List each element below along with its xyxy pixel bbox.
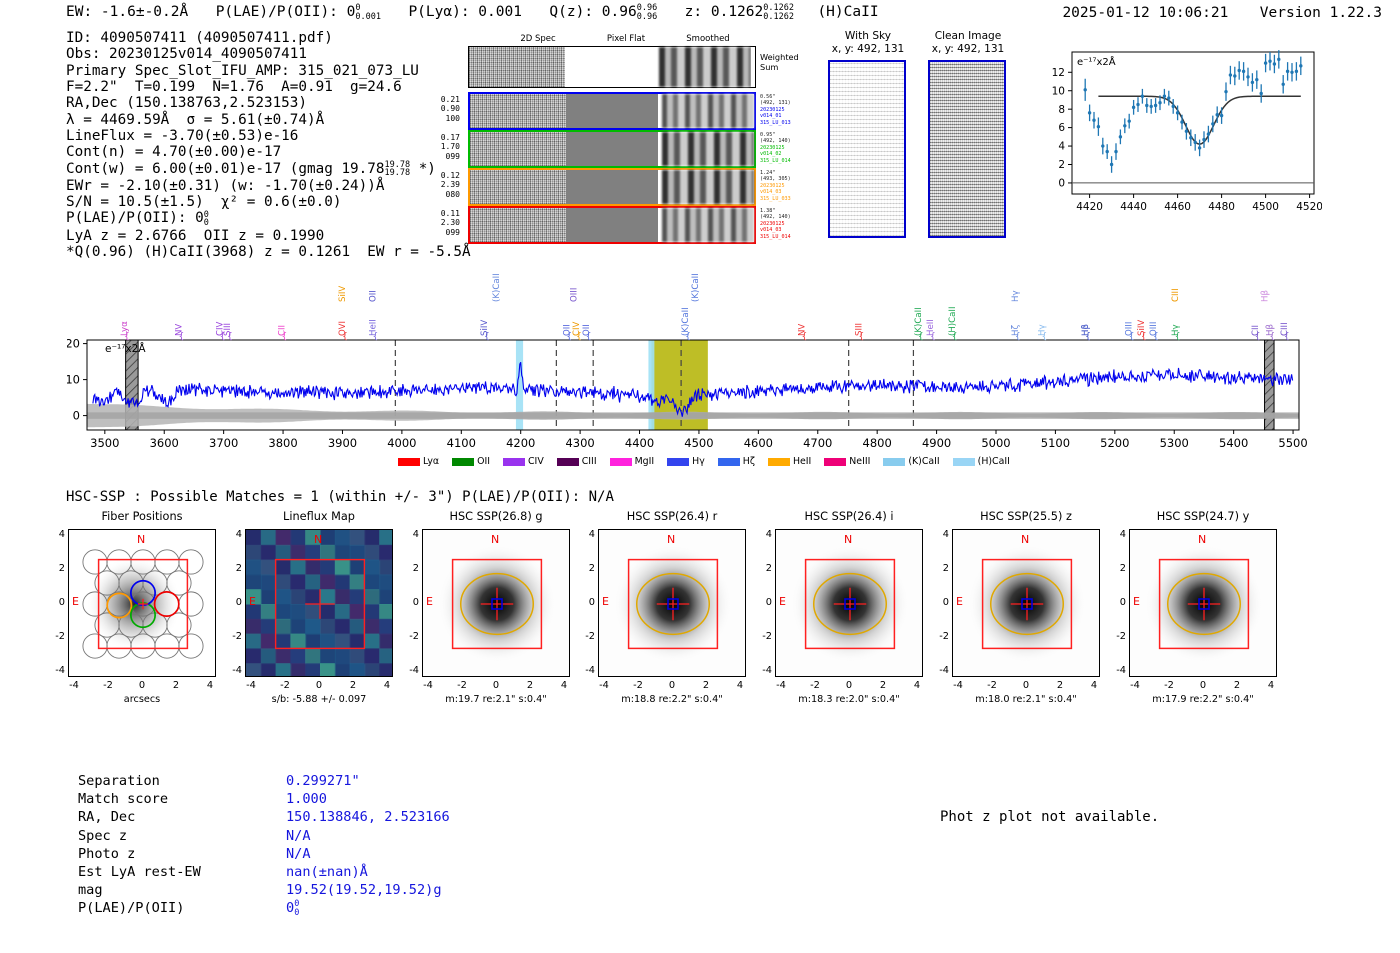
cutout-x-tick: -4 [1126,680,1144,691]
cutout-x-tick: 2 [1051,680,1069,691]
legend-item: Hγ [667,456,705,467]
cutout-image[interactable] [775,529,923,677]
svg-text:2: 2 [1058,159,1065,171]
cutout-x-tick: 0 [310,680,328,691]
info-cont-n: Cont(n) = 4.70(±0.00)e-17 [66,144,471,160]
header-z: z: 0.1262 [685,4,764,20]
info-qnote: *Q(0.96) (H)CaII(3968) z = 0.1261 EW r =… [66,244,471,260]
legend-label: Hγ [692,456,705,467]
svg-text:8: 8 [1058,104,1065,116]
spectrum-line-label: OII [368,290,378,302]
info-cont-w: Cont(w) = 6.00(±0.01)e-17 (gmag 19.7819.… [66,161,471,178]
header-plae-frac: 00.001 [355,4,381,21]
compass-north: N [491,533,499,546]
cutout-y-tick: -4 [1109,665,1126,676]
fiber-pixelflat-image [566,132,658,166]
cutout-x-tick: -2 [983,680,1001,691]
compass-north: N [844,533,852,546]
info-gmag-frac: 19.7819.78 [384,161,410,178]
info-ewr: EWr = -2.10(±0.31) (w: -1.70(±0.24))Å [66,178,471,194]
legend-swatch [610,458,632,466]
fiber-stats: 0.171.70099 [430,133,460,161]
legend-swatch [953,458,975,466]
cutout-y-tick: 0 [755,597,772,608]
line-fit-svg: 442044404460448045004520024681012e⁻¹⁷x2Å [1032,44,1322,224]
info-obs: Obs: 20230125v014_4090507411 [66,46,471,62]
cutout-y-tick: -2 [1109,631,1126,642]
cutout-y-tick: 0 [578,597,595,608]
cutout-title: HSC SSP(24.7) y [1099,510,1307,523]
cutout-image[interactable] [245,529,393,677]
fiber-smoothed-image [662,132,754,166]
header-plae-label: P(LAE)/P(OII): [216,4,338,20]
svg-text:4800: 4800 [863,436,892,450]
svg-text:4460: 4460 [1164,201,1191,213]
svg-text:{: { [802,332,808,342]
fiber-smoothed-image [662,94,754,128]
svg-text:4400: 4400 [625,436,654,450]
cutout-image[interactable] [952,529,1100,677]
cutout-x-tick: 0 [1017,680,1035,691]
legend-label: OII [477,456,490,467]
info-lineflux: LineFlux = -3.70(±0.53)e-16 [66,128,471,144]
info-plae: P(LAE)/P(OII): 000 [66,210,471,227]
svg-text:4520: 4520 [1296,201,1322,213]
legend-label: CIV [528,456,544,467]
match-table-value: N/A [286,845,311,863]
fiber-panel[interactable] [468,206,756,244]
cutout-x-tick: -4 [772,680,790,691]
legend-swatch [883,458,905,466]
fiber-metadata: 1.24"(493, 305)20230125v014_03315_LU_033 [760,170,806,202]
cutout-x-tick: 2 [167,680,185,691]
version-value: Version 1.22.3 [1260,5,1382,21]
with-sky-image[interactable] [828,60,906,238]
svg-text:{: { [930,332,936,342]
svg-text:{: { [1269,332,1275,342]
cutout-x-tick: 0 [1194,680,1212,691]
svg-text:3800: 3800 [268,436,297,450]
legend-item: MgII [610,456,655,467]
cutout-y-tick: 4 [402,529,419,540]
compass-east: E [426,595,433,608]
cutout-x-tick: -4 [595,680,613,691]
report-timestamp: 2025-01-12 10:06:21 Version 1.22.3 [1062,5,1382,21]
header-summary-line: EW: -1.6±-0.2Å P(LAE)/P(OII): 000.001 P(… [66,4,879,21]
compass-east: E [602,595,609,608]
cutout-x-tick: -2 [629,680,647,691]
cutout-x-tick: 0 [663,680,681,691]
svg-text:{: { [1041,332,1047,342]
cutout-footer: m:17.9 re:2.2" s:0.4" [1095,694,1311,705]
fiber-metadata: 0.95"(492, 140)20230125v014_02315_LU_014 [760,132,806,164]
legend-swatch [452,458,474,466]
cutout-y-tick: 4 [225,529,242,540]
match-table-key: mag [78,881,103,899]
info-id: ID: 4090507411 (4090507411.pdf) [66,30,471,46]
legend-item: Lyα [398,456,439,467]
fiber-stats: 0.112.30099 [430,209,460,237]
legend-item: (H)CaII [953,456,1010,467]
svg-text:4700: 4700 [803,436,832,450]
match-table-key: Est LyA rest-EW [78,863,201,881]
header-qz: Q(z): 0.96 [549,4,636,20]
cutout-y-tick: -2 [402,631,419,642]
cutout-y-tick: 0 [48,597,65,608]
svg-text:{: { [685,332,691,342]
legend-swatch [824,458,846,466]
cutout-x-tick: 0 [840,680,858,691]
info-redshifts: LyA z = 2.6766 OII z = 0.1990 [66,228,471,244]
fiber-2dspec-image [470,208,566,242]
legend-swatch [398,458,420,466]
svg-text:{: { [484,332,490,342]
sky-panel-coords: x, y: 492, 131 [908,43,1028,55]
compass-east: E [779,595,786,608]
cutout-image[interactable] [1129,529,1277,677]
cutout-y-tick: -4 [755,665,772,676]
legend-label: HeII [793,456,811,467]
weighted-sum-label: Weighted Sum [760,52,799,72]
cutout-x-tick: -2 [453,680,471,691]
cutout-x-tick: -2 [276,680,294,691]
cutout-y-tick: -2 [225,631,242,642]
spectrum-line-label: OIII [570,288,580,302]
fiber-pixelflat-image [566,94,658,128]
svg-text:3500: 3500 [90,436,119,450]
compass-east: E [249,595,256,608]
svg-text:5000: 5000 [981,436,1010,450]
match-table-key: Photo z [78,845,135,863]
svg-text:12: 12 [1052,67,1065,79]
svg-text:{: { [220,332,226,342]
compass-north: N [1198,533,1206,546]
fiber-pixelflat-image [566,170,658,204]
svg-text:10: 10 [1052,85,1065,97]
hsc-header: HSC-SSP : Possible Matches = 1 (within +… [66,489,614,505]
compass-east: E [72,595,79,608]
svg-text:{: { [1284,332,1290,342]
svg-text:{: { [179,332,185,342]
cutout-y-tick: 0 [932,597,949,608]
cutout-y-tick: 2 [1109,563,1126,574]
match-table-value: 150.138846, 2.523166 [286,808,450,826]
fiber-smoothed-image [662,170,754,204]
svg-text:{: { [227,332,233,342]
fiber-panel[interactable] [468,92,756,130]
cutout-x-tick: 2 [697,680,715,691]
svg-text:4: 4 [1058,141,1065,153]
info-primary-spec: Primary Spec_Slot_IFU_AMP: 315_021_073_L… [66,63,471,79]
svg-text:e⁻¹⁷x2Å: e⁻¹⁷x2Å [105,342,146,355]
svg-text:3900: 3900 [328,436,357,450]
info-lambda: λ = 4469.59Å σ = 5.61(±0.74)Å [66,112,471,128]
compass-east: E [1133,595,1140,608]
match-table-value: nan(±nan)Å [286,863,368,881]
fiber-metadata: 0.56"(492, 131)20230125v014_01315_LU_013 [760,94,806,126]
svg-text:{: { [1015,332,1021,342]
info-radec: RA,Dec (150.138763,2.523153) [66,95,471,111]
cutout-y-tick: -4 [225,665,242,676]
cutout-y-tick: 4 [578,529,595,540]
svg-text:{: { [1153,332,1159,342]
cutout-y-tick: 4 [48,529,65,540]
svg-text:{: { [918,332,924,342]
svg-text:e⁻¹⁷x2Å: e⁻¹⁷x2Å [1077,55,1116,68]
svg-text:{: { [282,332,288,342]
cutout-x-tick: 0 [133,680,151,691]
clean-image[interactable] [928,60,1006,238]
svg-text:4500: 4500 [684,436,713,450]
header-qz-frac: 0.960.96 [637,4,657,21]
legend-swatch [768,458,790,466]
svg-text:6: 6 [1058,122,1065,134]
col-title-smoothed: Smoothed [668,34,748,44]
spectrum-line-label: (K)CaII [492,273,502,302]
spectrum-line-label: Hβ [1260,290,1270,302]
cutout-y-tick: 2 [225,563,242,574]
svg-text:{: { [952,332,958,342]
svg-text:4300: 4300 [565,436,594,450]
line-fit-plot: 442044404460448045004520024681012e⁻¹⁷x2Å [1032,44,1322,224]
cutout-x-tick: 2 [344,680,362,691]
legend-swatch [557,458,579,466]
svg-text:20: 20 [67,337,80,351]
cutout-y-tick: 2 [402,563,419,574]
header-z-frac: 0.12620.1262 [763,4,794,21]
info-plae-frac: 00 [204,211,209,228]
legend-label: Lyα [423,456,439,467]
cutout-x-tick: 2 [874,680,892,691]
svg-text:{: { [1141,332,1147,342]
svg-text:0: 0 [73,409,80,423]
legend-item: CIII [557,456,597,467]
svg-text:4200: 4200 [506,436,535,450]
header-ew: EW: -1.6±-0.2Å [66,4,188,20]
cutout-x-tick: 4 [201,680,219,691]
legend-item: CIV [503,456,544,467]
svg-text:4600: 4600 [744,436,773,450]
svg-text:4500: 4500 [1252,201,1279,213]
weighted-sum-panel [468,46,756,88]
svg-text:0: 0 [1058,178,1065,190]
fiber-pixelflat-image [566,208,658,242]
svg-text:5200: 5200 [1100,436,1129,450]
match-table-key: RA, Dec [78,808,135,826]
legend-item: (K)CaII [883,456,939,467]
cutout-x-tick: 4 [1085,680,1103,691]
cutout-y-tick: -4 [402,665,419,676]
fiber-stats: 0.210.90100 [430,95,460,123]
fiber-panel[interactable] [468,168,756,206]
svg-text:{: { [858,332,864,342]
spectrum-line-label: (K)CaII [691,273,701,302]
sky-panel-title: Clean Image [908,30,1028,42]
cutout-y-tick: 2 [932,563,949,574]
svg-text:{: { [586,332,592,342]
cutout-y-tick: 2 [48,563,65,574]
timestamp-value: 2025-01-12 10:06:21 [1062,5,1228,21]
match-table-value: 0.299271" [286,772,360,790]
spectrum-line-label: SiIV [338,286,348,302]
svg-text:5100: 5100 [1041,436,1070,450]
svg-text:{: { [1255,332,1261,342]
legend-item: NeIII [824,456,870,467]
match-table-key: Separation [78,772,160,790]
svg-text:5500: 5500 [1278,436,1307,450]
legend-swatch [667,458,689,466]
cutout-x-tick: 4 [555,680,573,691]
cutout-x-tick: 4 [1262,680,1280,691]
svg-text:10: 10 [67,373,80,387]
cutout-y-tick: -4 [578,665,595,676]
cutout-x-tick: -2 [1160,680,1178,691]
cutout-x-tick: 2 [1228,680,1246,691]
spectrum-line-label: Hγ [1011,290,1021,302]
svg-text:3600: 3600 [150,436,179,450]
fiber-2dspec-image [470,132,566,166]
cutout-x-tick: -4 [949,680,967,691]
cutout-y-tick: -2 [755,631,772,642]
svg-text:5300: 5300 [1160,436,1189,450]
spectrum-line-label: CIII [1171,288,1181,302]
cutout-y-tick: 2 [578,563,595,574]
fiber-panel[interactable] [468,130,756,168]
cutout-y-tick: 0 [1109,597,1126,608]
svg-text:4000: 4000 [387,436,416,450]
header-z-species: (H)CaII [817,4,878,20]
cutout-x-tick: -2 [99,680,117,691]
col-title-2dspec: 2D Spec [498,34,578,44]
cutout-y-tick: -2 [578,631,595,642]
cutout-y-tick: 0 [402,597,419,608]
svg-text:{: { [1175,332,1181,342]
cutout-x-tick: -4 [242,680,260,691]
cutout-x-tick: 4 [731,680,749,691]
svg-text:5400: 5400 [1219,436,1248,450]
cutout-y-tick: 0 [225,597,242,608]
fiber-2dspec-image [470,170,566,204]
compass-north: N [314,533,322,546]
legend-label: (H)CaII [978,456,1010,467]
cutout-image[interactable] [598,529,746,677]
match-table-key: P(LAE)/P(OII) [78,899,184,917]
fiber-2dspec-image [470,94,566,128]
cutout-y-tick: 2 [755,563,772,574]
cutout-y-tick: -2 [932,631,949,642]
svg-text:4100: 4100 [447,436,476,450]
svg-text:4420: 4420 [1076,201,1103,213]
match-table-value: N/A [286,827,311,845]
info-snr: S/N = 10.5(±1.5) χ² = 0.6(±0.0) [66,194,471,210]
cutout-x-tick: 2 [521,680,539,691]
legend-swatch [718,458,740,466]
match-table-value: 000 [286,899,299,917]
legend-label: MgII [635,456,655,467]
match-table-key: Spec z [78,827,127,845]
svg-text:{: { [1085,332,1091,342]
match-table-value: 1.000 [286,790,327,808]
fiber-metadata: 1.38"(492, 140)20230125v014_03315_LU_014 [760,208,806,240]
compass-east: E [956,595,963,608]
fiber-stats: 0.122.39080 [430,171,460,199]
cutout-x-tick: 4 [378,680,396,691]
compass-north: N [137,533,145,546]
photz-note: Phot z plot not available. [940,809,1159,825]
cutout-image[interactable] [68,529,216,677]
header-plae-value: 0 [347,4,356,20]
match-table-value: 19.52(19.52,19.52)g [286,881,442,899]
legend-swatch [503,458,525,466]
legend-item: OII [452,456,490,467]
svg-text:{: { [1129,332,1135,342]
source-info-block: ID: 4090507411 (4090507411.pdf) Obs: 202… [66,30,471,260]
legend-label: Hζ [743,456,755,467]
cutout-y-tick: -4 [48,665,65,676]
cutout-x-tick: 0 [487,680,505,691]
cutout-y-tick: 4 [932,529,949,540]
main-spectrum-svg: 0102035003600370038003900400041004200430… [67,268,1349,456]
match-table-key: Match score [78,790,168,808]
legend-label: (K)CaII [908,456,939,467]
compass-north: N [667,533,675,546]
cutout-x-tick: -4 [419,680,437,691]
match-plae-frac: 00 [294,900,299,917]
cutout-y-tick: 4 [755,529,772,540]
col-title-pixelflat: Pixel Flat [586,34,666,44]
fiber-smoothed-image [662,208,754,242]
svg-text:{: { [342,332,348,342]
svg-text:4900: 4900 [922,436,951,450]
legend-label: NeIII [849,456,870,467]
svg-text:{: { [372,332,378,342]
compass-north: N [1021,533,1029,546]
header-plya: P(Lyα): 0.001 [408,4,522,20]
cutout-y-tick: 4 [1109,529,1126,540]
cutout-y-tick: -2 [48,631,65,642]
cutout-x-tick: 4 [908,680,926,691]
legend-label: CIII [582,456,597,467]
cutout-y-tick: -4 [932,665,949,676]
svg-text:4440: 4440 [1120,201,1147,213]
svg-text:3700: 3700 [209,436,238,450]
svg-text:4480: 4480 [1208,201,1235,213]
legend-item: Hζ [718,456,755,467]
cutout-x-tick: -4 [65,680,83,691]
emission-line-legend: LyαOIICIVCIIIMgIIHγHζHeIINeIII(K)CaII(H)… [398,456,1010,467]
cutout-image[interactable] [422,529,570,677]
info-params: F=2.2" T=0.199 N=1.76 A=0.91 g=24.6 [66,79,471,95]
svg-text:{: { [124,332,130,342]
legend-item: HeII [768,456,811,467]
cutout-x-tick: -2 [806,680,824,691]
